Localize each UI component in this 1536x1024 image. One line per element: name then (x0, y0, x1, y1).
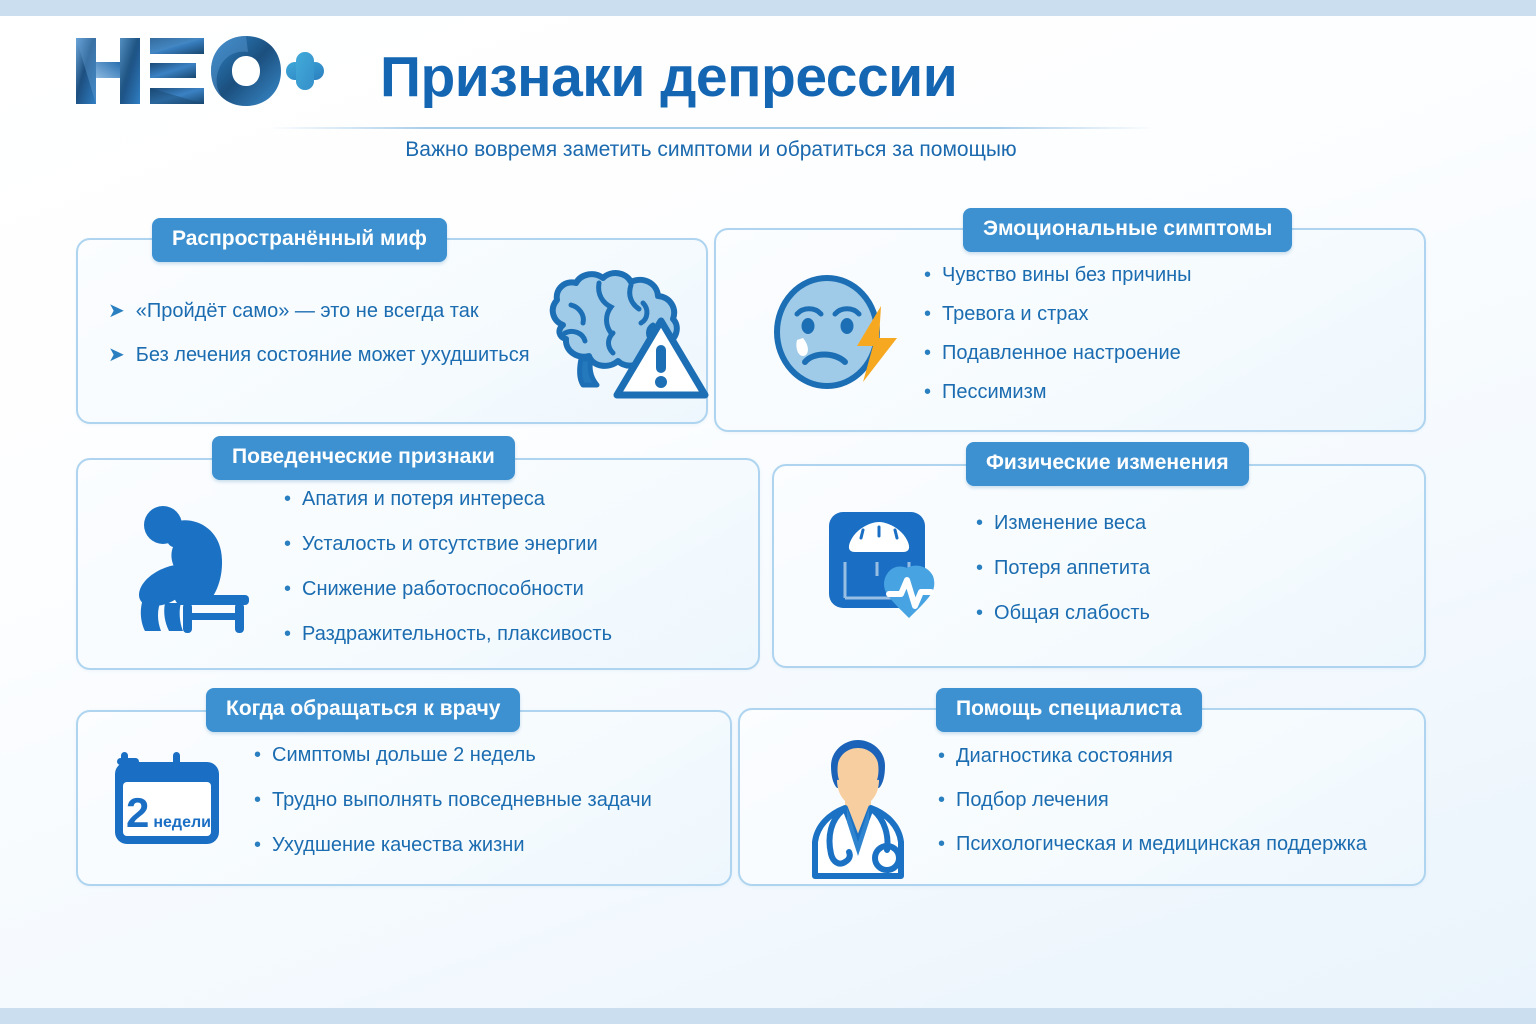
bullet-icon: • (284, 579, 291, 599)
list-item-label: Подбор лечения (956, 789, 1109, 811)
calendar-2-weeks-icon: 2 недели (106, 748, 236, 852)
decorative-bottom-band (0, 1008, 1536, 1024)
bullet-icon: • (938, 790, 945, 810)
card-badge-behavioral: Поведенческие признаки (212, 436, 515, 480)
header: Признаки депрессии Важно вовремя заметит… (0, 16, 1536, 168)
list-item-label: Ухудшение качества жизни (272, 834, 524, 856)
bullet-icon: • (924, 304, 931, 324)
list-item: • Симптомы дольше 2 недель (254, 744, 712, 766)
bullet-icon: • (254, 835, 261, 855)
decorative-top-band (0, 0, 1536, 16)
bullet-icon: • (284, 489, 291, 509)
card-behavioral: • Апатия и потеря интереса • Усталость и… (76, 458, 760, 670)
list-item: • Трудно выполнять повседневные задачи (254, 789, 712, 811)
card-specialist-help: • Диагностика состояния • Подбор лечения… (738, 708, 1426, 886)
card-badge-myth: Распространённый миф (152, 218, 447, 262)
card-when-to-see-doctor: 2 недели • Симптомы дольше 2 недель • Тр… (76, 710, 732, 886)
list-item-label: Потеря аппетита (994, 557, 1150, 579)
bullet-icon: • (924, 382, 931, 402)
card-physical: • Изменение веса • Потеря аппетита • Общ… (772, 464, 1426, 668)
bullet-icon: • (976, 603, 983, 623)
calendar-caption: недели (153, 814, 211, 832)
emotional-list: • Чувство вины без причины • Тревога и с… (924, 264, 1406, 403)
list-item-label: Изменение веса (994, 512, 1146, 534)
bullet-icon: • (254, 745, 261, 765)
slumped-person-icon (120, 499, 260, 634)
page-title: Признаки депрессии (380, 44, 957, 110)
list-item-label: Трудно выполнять повседневные задачи (272, 789, 652, 811)
list-item: • Подбор лечения (938, 789, 1406, 811)
page-subtitle: Важно вовремя заметить симптоми и обрати… (268, 138, 1154, 162)
list-item-label: «Пройдёт само» — это не всегда так (136, 300, 479, 322)
list-item-label: Раздражительность, плаксивость (302, 623, 612, 645)
list-item-label: Общая слабость (994, 602, 1150, 624)
card-badge-physical: Физические изменения (966, 442, 1249, 486)
brain-warning-icon (530, 263, 720, 403)
sad-face-lightning-icon (764, 268, 914, 398)
infographic-page: Признаки депрессии Важно вовремя заметит… (0, 16, 1536, 1008)
list-item: • Общая слабость (976, 602, 1406, 624)
list-item: • Чувство вины без причины (924, 264, 1406, 286)
bullet-icon: • (938, 834, 945, 854)
card-emotional: • Чувство вины без причины • Тревога и с… (714, 228, 1426, 432)
card-badge-specialist-help: Помощь специалиста (936, 688, 1202, 732)
bullet-icon: • (284, 534, 291, 554)
card-badge-when-to-see-doctor: Когда обращаться к врачу (206, 688, 520, 732)
arrow-bullet-icon: ➤ (108, 345, 125, 365)
physical-list: • Изменение веса • Потеря аппетита • Общ… (976, 512, 1406, 624)
list-item: • Изменение веса (976, 512, 1406, 534)
bullet-icon: • (284, 624, 291, 644)
list-item-label: Психологическая и медицинская поддержка (956, 833, 1367, 855)
header-divider (268, 127, 1154, 129)
myth-list: ➤ «Пройдёт само» — это не всегда так ➤ Б… (108, 300, 530, 366)
list-item: • Потеря аппетита (976, 557, 1406, 579)
bullet-icon: • (924, 265, 931, 285)
card-myth: ➤ «Пройдёт само» — это не всегда так ➤ Б… (76, 238, 708, 424)
list-item-label: Чувство вины без причины (942, 264, 1192, 286)
behavioral-list: • Апатия и потеря интереса • Усталость и… (284, 488, 740, 645)
list-item: • Ухудшение качества жизни (254, 834, 712, 856)
list-item-label: Тревога и страх (942, 303, 1089, 325)
list-item: • Апатия и потеря интереса (284, 488, 740, 510)
list-item: • Снижение работоспособности (284, 578, 740, 600)
neo-plus-logo (74, 32, 324, 114)
list-item: • Раздражительность, плаксивость (284, 623, 740, 645)
bullet-icon: • (924, 343, 931, 363)
arrow-bullet-icon: ➤ (108, 301, 125, 321)
list-item-label: Пессимизм (942, 381, 1047, 403)
list-item-label: Симптомы дольше 2 недель (272, 744, 536, 766)
list-item-label: Подавленное настроение (942, 342, 1181, 364)
list-item-label: Снижение работоспособности (302, 578, 584, 600)
bullet-icon: • (976, 558, 983, 578)
calendar-number: 2 (126, 792, 149, 834)
bullet-icon: • (938, 746, 945, 766)
list-item-label: Апатия и потеря интереса (302, 488, 545, 510)
list-item: • Усталость и отсутствие энергии (284, 533, 740, 555)
list-item: • Диагностика состояния (938, 745, 1406, 767)
bullet-icon: • (254, 790, 261, 810)
list-item: ➤ Без лечения состояние может ухудшиться (108, 344, 530, 366)
list-item: ➤ «Пройдёт само» — это не всегда так (108, 300, 530, 322)
doctor-icon (788, 724, 928, 876)
list-item-label: Диагностика состояния (956, 745, 1173, 767)
bullet-icon: • (976, 513, 983, 533)
card-badge-emotional: Эмоциональные симптомы (963, 208, 1292, 252)
specialist-help-list: • Диагностика состояния • Подбор лечения… (938, 745, 1406, 855)
list-item: • Психологическая и медицинская поддержк… (938, 833, 1406, 855)
list-item-label: Усталость и отсутствие энергии (302, 533, 598, 555)
weight-scale-heart-icon (818, 506, 958, 631)
when-to-see-doctor-list: • Симптомы дольше 2 недель • Трудно выпо… (254, 744, 712, 856)
list-item: • Пессимизм (924, 381, 1406, 403)
list-item-label: Без лечения состояние может ухудшиться (136, 344, 530, 366)
list-item: • Тревога и страх (924, 303, 1406, 325)
list-item: • Подавленное настроение (924, 342, 1406, 364)
